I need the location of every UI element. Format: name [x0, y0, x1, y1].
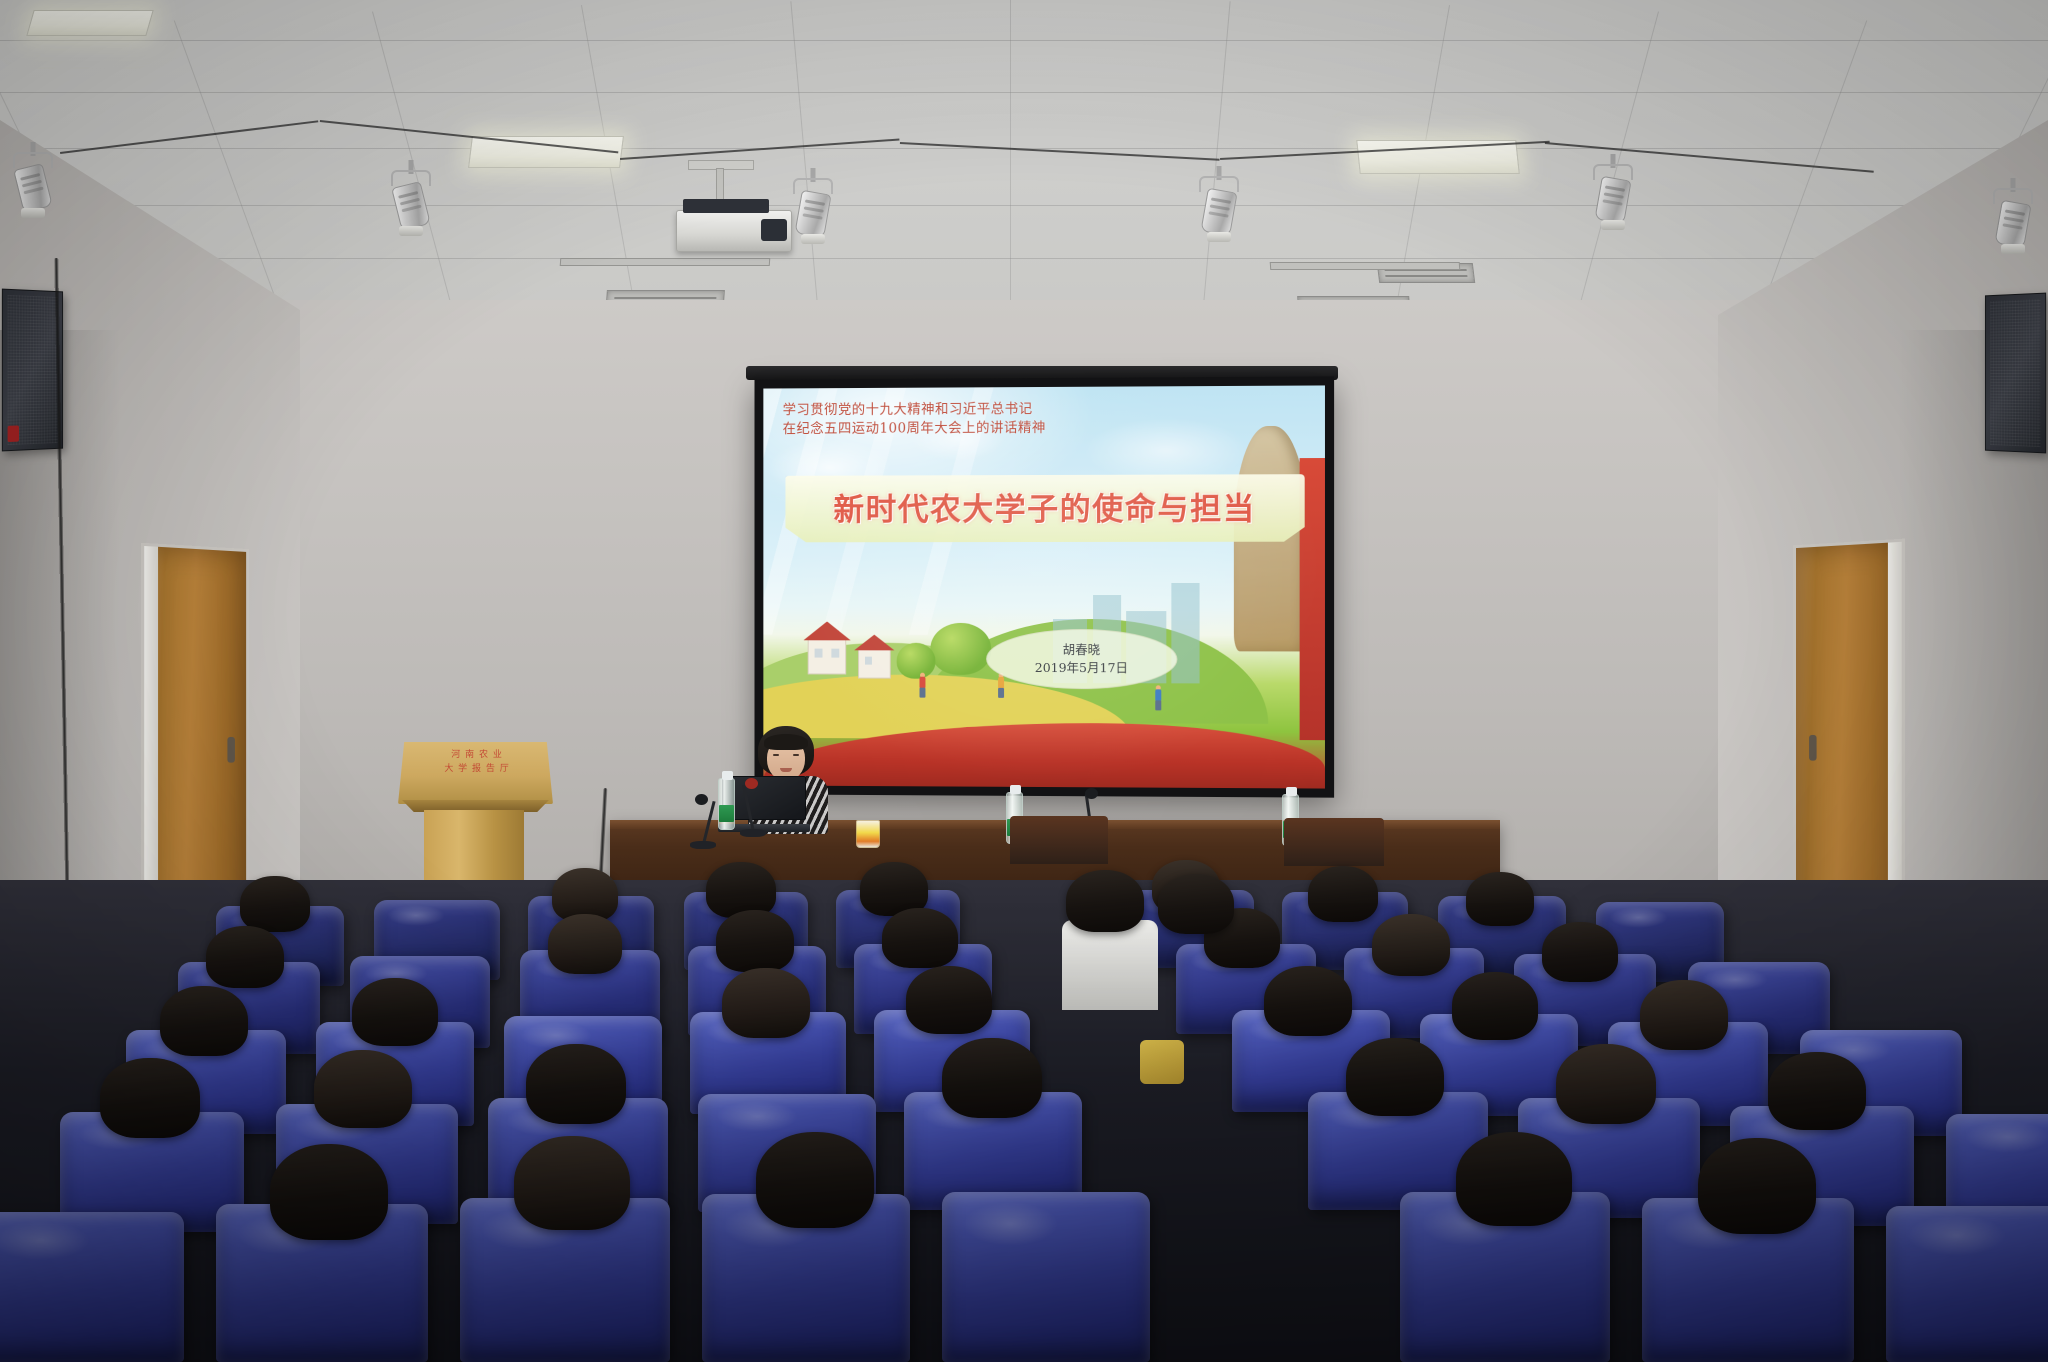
door-right[interactable] [1793, 539, 1905, 922]
audience-head [100, 1058, 200, 1138]
audience-shirt [1062, 920, 1158, 1010]
audience-head [1456, 1132, 1572, 1226]
ceiling-lamp [468, 136, 624, 168]
wall-speaker-right [1985, 293, 2046, 454]
slide-title: 新时代农大学子的使命与担当 [791, 483, 1299, 529]
paper-cup[interactable] [856, 820, 880, 848]
slide-city-silhouette [1172, 583, 1200, 683]
audience-head [526, 1044, 626, 1124]
audience-head [160, 986, 248, 1056]
slide-header-line-2: 在纪念五四运动100周年大会上的讲话精神 [783, 419, 1130, 440]
slide-house [858, 649, 891, 679]
lecture-hall-scene: 学习贯彻党的十九大精神和习近平总书记 在纪念五四运动100周年大会上的讲话精神 … [0, 0, 2048, 1362]
speaker-badge [8, 425, 19, 442]
audience-head [716, 910, 794, 972]
audience-head [1308, 866, 1378, 922]
podium-inscription-line-2: 大 学 报 告 厅 [414, 763, 541, 777]
audience-head [1640, 980, 1728, 1050]
ceiling-lamp [26, 10, 153, 36]
slide-presentation-date: 2019年5月17日 [1035, 660, 1128, 676]
slide-title-band: 新时代农大学子的使命与担当 [785, 474, 1305, 542]
slide-header-text: 学习贯彻党的十九大精神和习近平总书记 在纪念五四运动100周年大会上的讲话精神 [783, 399, 1130, 440]
audience-head [1556, 1044, 1656, 1124]
slide-presenter-name: 胡春晓 [1063, 642, 1101, 658]
audience-head [240, 876, 310, 932]
audience-head [548, 914, 622, 974]
audience-head [1466, 872, 1534, 926]
audience-head [1768, 1052, 1866, 1130]
slide-figure [1155, 685, 1163, 711]
audience-head [1542, 922, 1618, 982]
stage-chair[interactable] [1010, 816, 1108, 864]
audience-head [1158, 874, 1234, 934]
slide-presenter-badge: 胡春晓 2019年5月17日 [986, 629, 1177, 689]
audience-head [1372, 914, 1450, 976]
ceiling-tile-grid [0, 0, 2048, 340]
podium-inscription: 河 南 农 业 大 学 报 告 厅 [414, 749, 541, 776]
seat[interactable] [0, 1212, 184, 1362]
yellow-bag [1140, 1040, 1184, 1084]
projection-screen: 学习贯彻党的十九大精神和习近平总书记 在纪念五四运动100周年大会上的讲话精神 … [763, 385, 1325, 788]
stage-chair[interactable] [1284, 818, 1384, 866]
audience-head [882, 908, 958, 968]
audience-head [1346, 1038, 1444, 1116]
audience-head [722, 968, 810, 1038]
audience-head [270, 1144, 388, 1240]
audience-head [1452, 972, 1538, 1040]
audience-head [942, 1038, 1042, 1118]
slide-house [808, 639, 847, 675]
ceiling [0, 0, 2048, 340]
slide-header-line-1: 学习贯彻党的十九大精神和习近平总书记 [783, 399, 1130, 420]
audience-head [1066, 870, 1144, 932]
door-left[interactable] [141, 543, 249, 921]
podium-inscription-line-1: 河 南 农 业 [414, 749, 541, 763]
audience-head [1698, 1138, 1816, 1234]
microphone[interactable] [700, 800, 703, 844]
microphone[interactable] [750, 784, 753, 832]
ceiling-trim-strip [1270, 262, 1461, 270]
projector [676, 210, 792, 252]
wall-speaker-left [2, 289, 63, 452]
audience-head [352, 978, 438, 1046]
seat[interactable] [942, 1192, 1150, 1362]
podium-top: 河 南 农 业 大 学 报 告 厅 [398, 742, 553, 804]
water-bottle[interactable] [718, 778, 735, 830]
audience-head [206, 926, 284, 988]
slide-tree [930, 623, 991, 675]
audience-head [756, 1132, 874, 1228]
audience-head [906, 966, 992, 1034]
projector-lens [761, 219, 787, 241]
slide-figure [919, 673, 927, 699]
audience-head [514, 1136, 630, 1230]
projection-screen-frame: 学习贯彻党的十九大精神和习近平总书记 在纪念五四运动100周年大会上的讲话精神 … [754, 376, 1334, 797]
audience-head [706, 862, 776, 918]
audience-head [314, 1050, 412, 1128]
seat[interactable] [1886, 1206, 2048, 1362]
audience-head [1264, 966, 1352, 1036]
ceiling-trim-strip [560, 258, 771, 266]
slide-tree [897, 643, 936, 679]
